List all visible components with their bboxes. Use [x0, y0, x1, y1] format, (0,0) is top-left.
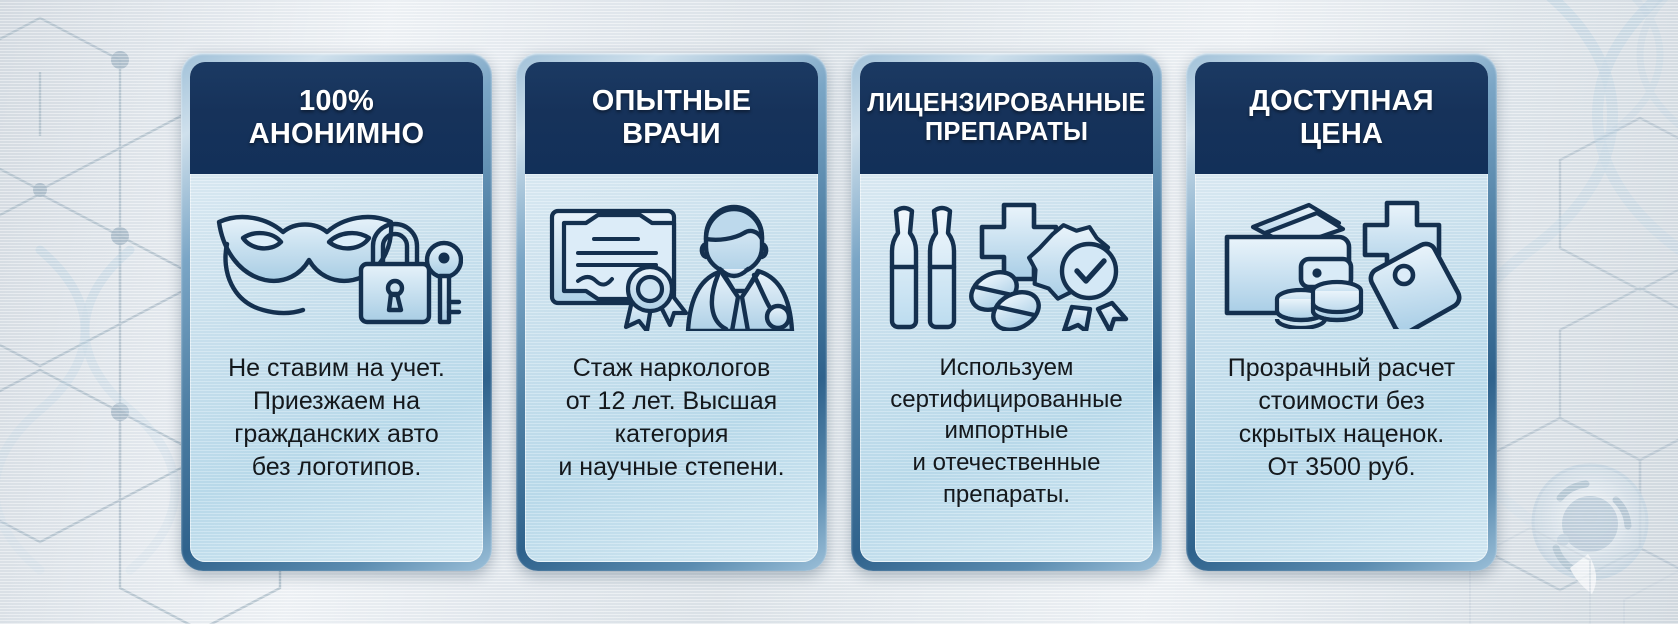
card-title-line: ОПЫТНЫЕ — [531, 85, 812, 117]
card-inner: 100% АНОНИМНО — [190, 62, 483, 562]
card-body-line: импортные — [870, 415, 1143, 447]
card-body-line: скрытых наценок. — [1205, 418, 1478, 451]
card-title-line: ПРЕПАРАТЫ — [866, 118, 1147, 147]
card-title-line: ЛИЦЕНЗИРОВАННЫЕ — [866, 89, 1147, 118]
card-inner: ОПЫТНЫЕ ВРАЧИ — [525, 62, 818, 562]
diploma-doctor-icon — [525, 174, 818, 352]
promo-banner: 100% АНОНИМНО — [0, 0, 1678, 624]
card-title-line: АНОНИМНО — [196, 118, 477, 150]
benefit-card-licensed-drugs[interactable]: ЛИЦЕНЗИРОВАННЫЕ ПРЕПАРАТЫ — [851, 53, 1162, 571]
card-inner: ДОСТУПНАЯ ЦЕНА — [1195, 62, 1488, 562]
benefit-card-list: 100% АНОНИМНО — [0, 0, 1678, 624]
card-body-experienced-doctors: Стаж наркологов от 12 лет. Высшая катего… — [525, 352, 818, 562]
card-body-anonymity: Не ставим на учет. Приезжаем на гражданс… — [190, 352, 483, 562]
card-title-experienced-doctors: ОПЫТНЫЕ ВРАЧИ — [525, 62, 818, 174]
benefit-card-experienced-doctors[interactable]: ОПЫТНЫЕ ВРАЧИ — [516, 53, 827, 571]
card-body-line: и отечественные — [870, 447, 1143, 479]
card-body-line: гражданских авто — [200, 418, 473, 451]
card-body-line: Используем — [870, 352, 1143, 384]
card-title-licensed-drugs: ЛИЦЕНЗИРОВАННЫЕ ПРЕПАРАТЫ — [860, 62, 1153, 174]
card-title-line: 100% — [196, 85, 477, 117]
card-body-line: и научные степени. — [535, 451, 808, 484]
card-title-line: ВРАЧИ — [531, 118, 812, 150]
card-body-line: Приезжаем на — [200, 385, 473, 418]
card-title-line: ЦЕНА — [1201, 118, 1482, 150]
card-body-affordable-price: Прозрачный расчет стоимости без скрытых … — [1195, 352, 1488, 562]
card-body-line: Стаж наркологов — [535, 352, 808, 385]
card-body-line: Не ставим на учет. — [200, 352, 473, 385]
mask-padlock-key-icon — [190, 174, 483, 352]
card-body-licensed-drugs: Используем сертифицированные импортные и… — [860, 352, 1153, 562]
card-title-line: ДОСТУПНАЯ — [1201, 85, 1482, 117]
card-body-line: сертифицированные — [870, 384, 1143, 416]
card-title-anonymity: 100% АНОНИМНО — [190, 62, 483, 174]
wallet-coins-cross-tag-icon — [1195, 174, 1488, 352]
ampoules-pills-cross-badge-icon — [860, 174, 1153, 352]
card-title-affordable-price: ДОСТУПНАЯ ЦЕНА — [1195, 62, 1488, 174]
card-body-line: От 3500 руб. — [1205, 451, 1478, 484]
card-body-line: категория — [535, 418, 808, 451]
card-body-line: стоимости без — [1205, 385, 1478, 418]
card-body-line: без логотипов. — [200, 451, 473, 484]
benefit-card-anonymity[interactable]: 100% АНОНИМНО — [181, 53, 492, 571]
benefit-card-affordable-price[interactable]: ДОСТУПНАЯ ЦЕНА — [1186, 53, 1497, 571]
card-body-line: от 12 лет. Высшая — [535, 385, 808, 418]
card-body-line: препараты. — [870, 479, 1143, 511]
card-body-line: Прозрачный расчет — [1205, 352, 1478, 385]
card-inner: ЛИЦЕНЗИРОВАННЫЕ ПРЕПАРАТЫ — [860, 62, 1153, 562]
